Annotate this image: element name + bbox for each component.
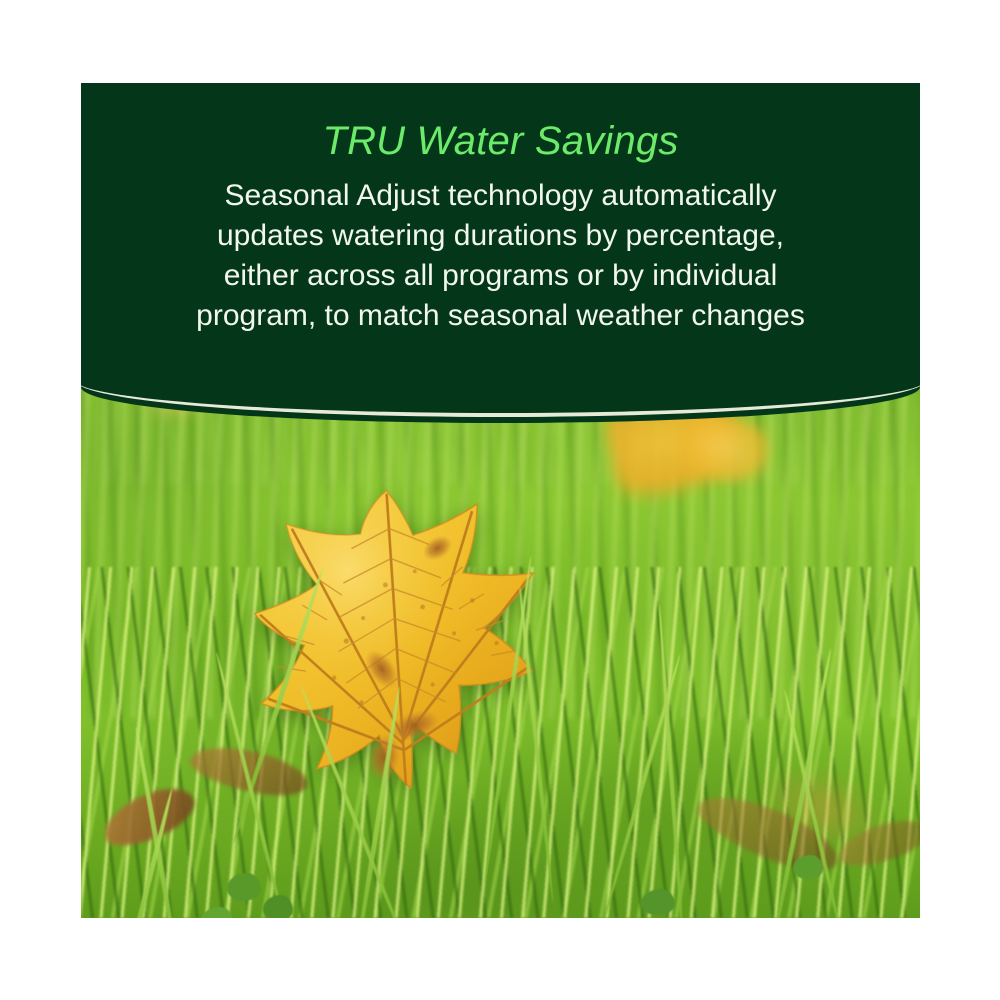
header-text-block: TRU Water Savings Seasonal Adjust techno… — [81, 83, 920, 336]
header-description: Seasonal Adjust technology automatically… — [151, 176, 851, 336]
header-description-line-4: program, to match seasonal weather chang… — [151, 296, 851, 336]
clover-leaf-4 — [641, 889, 675, 915]
header-panel: TRU Water Savings Seasonal Adjust techno… — [81, 83, 920, 423]
header-description-line-3: either across all programs or by individ… — [151, 256, 851, 296]
clover-leaf-5 — [793, 855, 823, 879]
maple-leaf — [221, 479, 588, 827]
header-description-line-1: Seasonal Adjust technology automatically — [151, 176, 851, 216]
page-title: TRU Water Savings — [81, 116, 920, 166]
header-description-line-2: updates watering durations by percentage… — [151, 216, 851, 256]
promo-canvas: TRU Water Savings Seasonal Adjust techno… — [0, 0, 1000, 1000]
clover-leaf-1 — [227, 873, 261, 901]
clover-leaf-2 — [263, 895, 293, 918]
promo-card: TRU Water Savings Seasonal Adjust techno… — [81, 83, 920, 918]
